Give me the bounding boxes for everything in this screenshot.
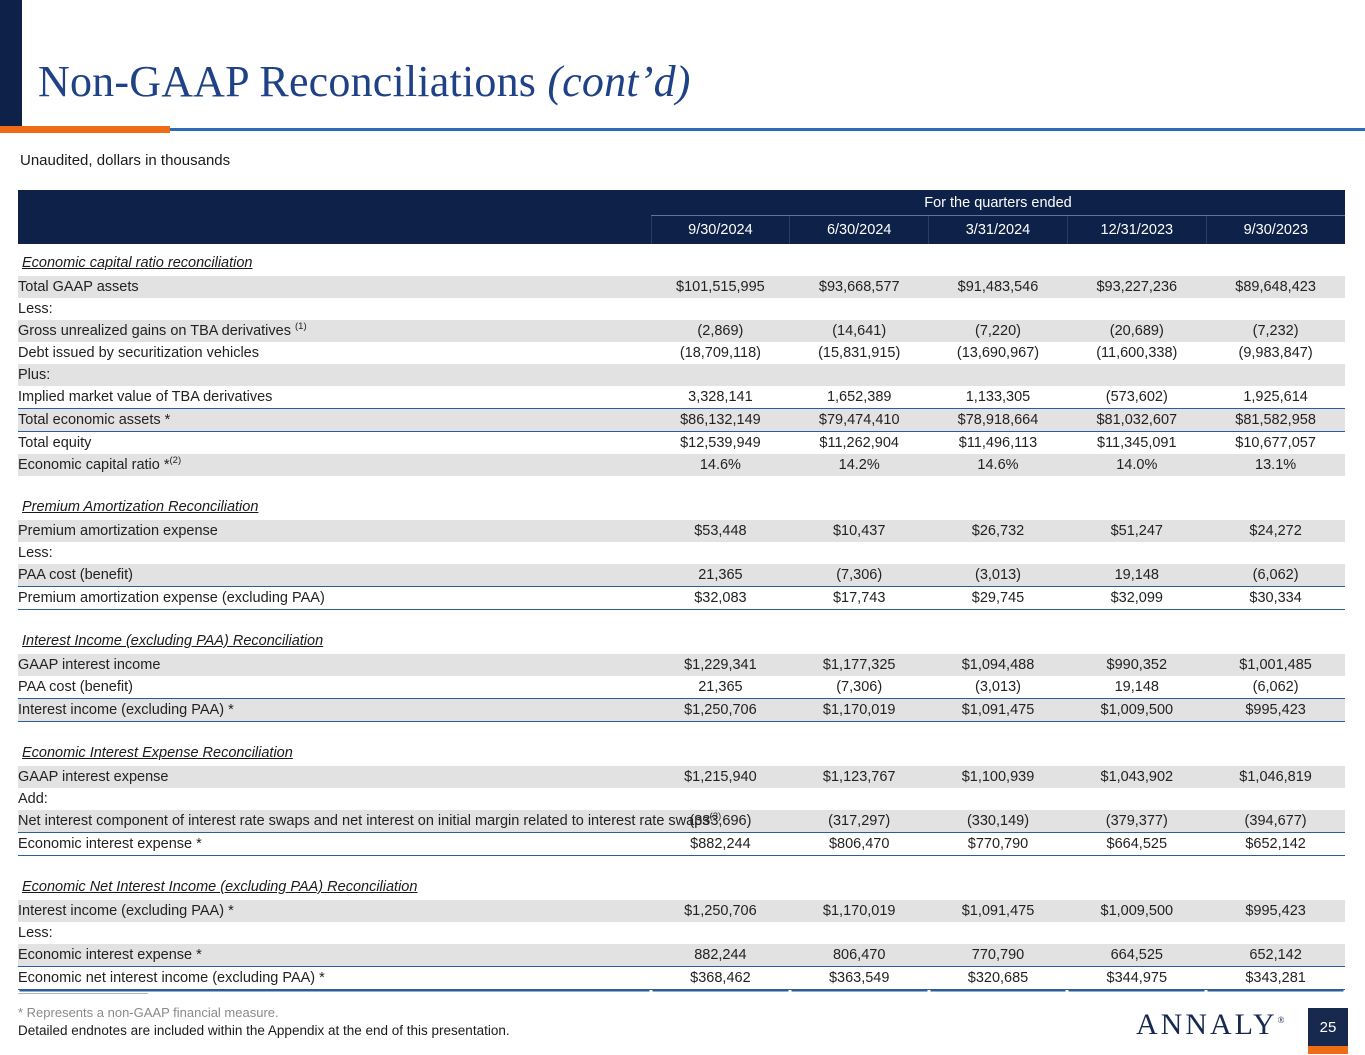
row-value: $1,046,819 bbox=[1206, 766, 1345, 788]
table-header-dates-row: 9/30/2024 6/30/2024 3/31/2024 12/31/2023… bbox=[18, 216, 1345, 245]
reconciliation-table-container: For the quarters ended 9/30/2024 6/30/20… bbox=[18, 190, 1345, 990]
row-label: Economic net interest income (excluding … bbox=[18, 967, 651, 990]
row-value: $343,281 bbox=[1206, 967, 1345, 990]
row-value: $1,250,706 bbox=[651, 699, 790, 722]
footnote-marker: (2) bbox=[170, 455, 182, 466]
row-value: $32,099 bbox=[1067, 587, 1206, 610]
section-header-row: Interest Income (excluding PAA) Reconcil… bbox=[18, 622, 1345, 654]
row-label: Less: bbox=[18, 922, 651, 944]
row-value bbox=[651, 922, 790, 944]
table-row: Less: bbox=[18, 922, 1345, 944]
row-value: $11,262,904 bbox=[790, 432, 929, 455]
row-value: (9,983,847) bbox=[1206, 342, 1345, 364]
table-row: Less: bbox=[18, 298, 1345, 320]
row-label: Economic capital ratio *(2) bbox=[18, 454, 651, 476]
row-value: 652,142 bbox=[1206, 944, 1345, 967]
row-value: 3,328,141 bbox=[651, 386, 790, 409]
title-rule-blue bbox=[170, 128, 1365, 131]
row-value: $363,549 bbox=[790, 967, 929, 990]
row-value: (6,062) bbox=[1206, 564, 1345, 587]
row-value bbox=[790, 298, 929, 320]
row-value: 1,925,614 bbox=[1206, 386, 1345, 409]
row-value: $10,677,057 bbox=[1206, 432, 1345, 455]
table-row: GAAP interest expense$1,215,940$1,123,76… bbox=[18, 766, 1345, 788]
row-value: $806,470 bbox=[790, 833, 929, 856]
reconciliation-table: For the quarters ended 9/30/2024 6/30/20… bbox=[18, 190, 1345, 990]
section-spacer bbox=[18, 610, 1345, 623]
row-label: Economic interest expense * bbox=[18, 833, 651, 856]
table-row: Total GAAP assets$101,515,995$93,668,577… bbox=[18, 276, 1345, 298]
row-value: $51,247 bbox=[1067, 520, 1206, 542]
row-value: 14.6% bbox=[929, 454, 1068, 476]
table-head: For the quarters ended 9/30/2024 6/30/20… bbox=[18, 190, 1345, 244]
row-value bbox=[790, 922, 929, 944]
column-header-q4: 12/31/2023 bbox=[1067, 216, 1206, 245]
footnote-divider bbox=[18, 993, 148, 994]
column-header-q2: 6/30/2024 bbox=[790, 216, 929, 245]
row-value: $12,539,949 bbox=[651, 432, 790, 455]
row-value: (18,709,118) bbox=[651, 342, 790, 364]
section-header-row: Economic Interest Expense Reconciliation bbox=[18, 734, 1345, 766]
table-row: Net interest component of interest rate … bbox=[18, 810, 1345, 833]
section-spacer-cell bbox=[18, 610, 1345, 623]
row-value: $1,123,767 bbox=[790, 766, 929, 788]
row-value bbox=[1206, 922, 1345, 944]
row-label: PAA cost (benefit) bbox=[18, 676, 651, 699]
row-value: $1,250,706 bbox=[651, 900, 790, 922]
row-value: $86,132,149 bbox=[651, 409, 790, 432]
table-row: Interest income (excluding PAA) *$1,250,… bbox=[18, 900, 1345, 922]
row-value: $1,091,475 bbox=[929, 699, 1068, 722]
row-value: 14.0% bbox=[1067, 454, 1206, 476]
row-value: $320,685 bbox=[929, 967, 1068, 990]
row-value bbox=[1206, 788, 1345, 810]
row-value: $1,001,485 bbox=[1206, 654, 1345, 676]
row-value bbox=[929, 788, 1068, 810]
row-value: (14,641) bbox=[790, 320, 929, 342]
row-value: $1,170,019 bbox=[790, 900, 929, 922]
row-value: $93,227,236 bbox=[1067, 276, 1206, 298]
row-label: Gross unrealized gains on TBA derivative… bbox=[18, 320, 651, 342]
row-value: $652,142 bbox=[1206, 833, 1345, 856]
section-header-row: Economic Net Interest Income (excluding … bbox=[18, 868, 1345, 900]
header-label-cell bbox=[18, 216, 651, 245]
header-corner-cell bbox=[18, 190, 651, 216]
row-value: 21,365 bbox=[651, 676, 790, 699]
table-header-spanner-row: For the quarters ended bbox=[18, 190, 1345, 216]
table-row: Total economic assets *$86,132,149$79,47… bbox=[18, 409, 1345, 432]
row-value: $1,094,488 bbox=[929, 654, 1068, 676]
row-value: $81,032,607 bbox=[1067, 409, 1206, 432]
row-value: $53,448 bbox=[651, 520, 790, 542]
row-value: (11,600,338) bbox=[1067, 342, 1206, 364]
page-number-badge: 25 bbox=[1308, 1008, 1348, 1046]
table-body: Economic capital ratio reconciliationTot… bbox=[18, 244, 1345, 990]
row-value: 1,652,389 bbox=[790, 386, 929, 409]
table-row: Premium amortization expense$53,448$10,4… bbox=[18, 520, 1345, 542]
section-spacer-cell bbox=[18, 856, 1345, 869]
page-number-underbar bbox=[1308, 1046, 1348, 1054]
row-value: $78,918,664 bbox=[929, 409, 1068, 432]
header-spanner-label: For the quarters ended bbox=[651, 190, 1345, 216]
column-header-q3: 3/31/2024 bbox=[929, 216, 1068, 245]
row-value: $995,423 bbox=[1206, 699, 1345, 722]
row-value: $664,525 bbox=[1067, 833, 1206, 856]
row-label: Add: bbox=[18, 788, 651, 810]
section-header-cell: Economic capital ratio reconciliation bbox=[18, 244, 1345, 276]
row-value: 13.1% bbox=[1206, 454, 1345, 476]
row-value: (13,690,967) bbox=[929, 342, 1068, 364]
row-value: $770,790 bbox=[929, 833, 1068, 856]
row-value bbox=[1206, 298, 1345, 320]
section-header-row: Economic capital ratio reconciliation bbox=[18, 244, 1345, 276]
row-value: $882,244 bbox=[651, 833, 790, 856]
row-value: $81,582,958 bbox=[1206, 409, 1345, 432]
row-value: 806,470 bbox=[790, 944, 929, 967]
row-value: $26,732 bbox=[929, 520, 1068, 542]
subtitle: Unaudited, dollars in thousands bbox=[20, 152, 230, 169]
row-value: $995,423 bbox=[1206, 900, 1345, 922]
footnote-endnotes: Detailed endnotes are included within th… bbox=[18, 1023, 510, 1038]
page-title-contd: (cont’d) bbox=[547, 57, 690, 106]
row-value: $1,009,500 bbox=[1067, 699, 1206, 722]
row-value bbox=[790, 788, 929, 810]
row-value: 664,525 bbox=[1067, 944, 1206, 967]
section-title: Interest Income (excluding PAA) Reconcil… bbox=[18, 633, 323, 649]
row-value: $1,009,500 bbox=[1067, 900, 1206, 922]
row-value: $344,975 bbox=[1067, 967, 1206, 990]
row-label: Economic interest expense * bbox=[18, 944, 651, 967]
table-row: Less: bbox=[18, 542, 1345, 564]
footnote-non-gaap: * Represents a non-GAAP financial measur… bbox=[18, 1005, 279, 1020]
table-row: Implied market value of TBA derivatives3… bbox=[18, 386, 1345, 409]
section-header-cell: Economic Net Interest Income (excluding … bbox=[18, 868, 1345, 900]
row-value: (394,677) bbox=[1206, 810, 1345, 833]
row-value bbox=[929, 922, 1068, 944]
row-value: (7,232) bbox=[1206, 320, 1345, 342]
row-value: (3,013) bbox=[929, 676, 1068, 699]
row-value bbox=[651, 788, 790, 810]
row-value: 14.2% bbox=[790, 454, 929, 476]
table-row: Total equity$12,539,949$11,262,904$11,49… bbox=[18, 432, 1345, 455]
section-header-cell: Interest Income (excluding PAA) Reconcil… bbox=[18, 622, 1345, 654]
row-value bbox=[929, 364, 1068, 386]
title-accent-bar bbox=[0, 0, 22, 128]
row-value: $30,334 bbox=[1206, 587, 1345, 610]
row-label: Less: bbox=[18, 542, 651, 564]
row-value bbox=[790, 364, 929, 386]
row-value: $93,668,577 bbox=[790, 276, 929, 298]
page-title-main: Non-GAAP Reconciliations bbox=[38, 57, 547, 106]
table-row: Debt issued by securitization vehicles(1… bbox=[18, 342, 1345, 364]
row-value bbox=[651, 364, 790, 386]
row-value: $368,462 bbox=[651, 967, 790, 990]
row-value: (317,297) bbox=[790, 810, 929, 833]
row-value: 19,148 bbox=[1067, 564, 1206, 587]
row-value: (20,689) bbox=[1067, 320, 1206, 342]
row-value: $1,091,475 bbox=[929, 900, 1068, 922]
row-label: Implied market value of TBA derivatives bbox=[18, 386, 651, 409]
row-value: 1,133,305 bbox=[929, 386, 1068, 409]
table-row: Gross unrealized gains on TBA derivative… bbox=[18, 320, 1345, 342]
row-label: Total economic assets * bbox=[18, 409, 651, 432]
section-spacer bbox=[18, 856, 1345, 869]
row-value bbox=[1206, 542, 1345, 564]
row-value: $101,515,995 bbox=[651, 276, 790, 298]
row-value: (6,062) bbox=[1206, 676, 1345, 699]
section-spacer bbox=[18, 476, 1345, 488]
row-value: $10,437 bbox=[790, 520, 929, 542]
table-row: Economic interest expense *$882,244$806,… bbox=[18, 833, 1345, 856]
section-header-cell: Economic Interest Expense Reconciliation bbox=[18, 734, 1345, 766]
row-value bbox=[1206, 364, 1345, 386]
row-value: (15,831,915) bbox=[790, 342, 929, 364]
table-row: Economic capital ratio *(2)14.6%14.2%14.… bbox=[18, 454, 1345, 476]
section-title: Economic Interest Expense Reconciliation bbox=[18, 745, 293, 761]
row-value bbox=[790, 542, 929, 564]
row-value: (7,220) bbox=[929, 320, 1068, 342]
section-title: Economic capital ratio reconciliation bbox=[18, 255, 253, 271]
row-label: Less: bbox=[18, 298, 651, 320]
row-value: (2,869) bbox=[651, 320, 790, 342]
row-value: 14.6% bbox=[651, 454, 790, 476]
row-label: Plus: bbox=[18, 364, 651, 386]
section-title: Premium Amortization Reconciliation bbox=[18, 499, 258, 515]
row-value: $89,648,423 bbox=[1206, 276, 1345, 298]
row-value: $1,170,019 bbox=[790, 699, 929, 722]
table-row: Plus: bbox=[18, 364, 1345, 386]
row-value: $1,177,325 bbox=[790, 654, 929, 676]
row-value bbox=[1067, 298, 1206, 320]
row-label: Premium amortization expense bbox=[18, 520, 651, 542]
row-value: $1,100,939 bbox=[929, 766, 1068, 788]
row-value: $1,229,341 bbox=[651, 654, 790, 676]
table-row: Interest income (excluding PAA) *$1,250,… bbox=[18, 699, 1345, 722]
row-value: $11,345,091 bbox=[1067, 432, 1206, 455]
row-value bbox=[929, 542, 1068, 564]
row-value: (330,149) bbox=[929, 810, 1068, 833]
annaly-logo-text: ANNALY bbox=[1136, 1008, 1278, 1041]
row-label: Debt issued by securitization vehicles bbox=[18, 342, 651, 364]
page-title: Non-GAAP Reconciliations (cont’d) bbox=[38, 56, 691, 107]
row-value: 19,148 bbox=[1067, 676, 1206, 699]
section-title: Economic Net Interest Income (excluding … bbox=[18, 879, 417, 895]
row-value: $990,352 bbox=[1067, 654, 1206, 676]
row-label: Total equity bbox=[18, 432, 651, 455]
row-value: $1,043,902 bbox=[1067, 766, 1206, 788]
section-header-cell: Premium Amortization Reconciliation bbox=[18, 488, 1345, 520]
row-value bbox=[1067, 922, 1206, 944]
row-label: Premium amortization expense (excluding … bbox=[18, 587, 651, 610]
row-value: 882,244 bbox=[651, 944, 790, 967]
row-label: GAAP interest income bbox=[18, 654, 651, 676]
row-value: $79,474,410 bbox=[790, 409, 929, 432]
registered-trademark-icon: ® bbox=[1278, 1015, 1285, 1025]
table-row: Economic interest expense *882,244806,47… bbox=[18, 944, 1345, 967]
section-spacer-cell bbox=[18, 722, 1345, 735]
annaly-logo: ANNALY® bbox=[1136, 1008, 1285, 1042]
row-label: Total GAAP assets bbox=[18, 276, 651, 298]
row-value: 770,790 bbox=[929, 944, 1068, 967]
section-spacer bbox=[18, 722, 1345, 735]
section-spacer-cell bbox=[18, 476, 1345, 488]
row-value: $24,272 bbox=[1206, 520, 1345, 542]
row-label: Net interest component of interest rate … bbox=[18, 810, 651, 833]
row-value bbox=[1067, 542, 1206, 564]
row-value bbox=[1067, 364, 1206, 386]
table-row: GAAP interest income$1,229,341$1,177,325… bbox=[18, 654, 1345, 676]
table-row: Economic net interest income (excluding … bbox=[18, 967, 1345, 990]
row-label: PAA cost (benefit) bbox=[18, 564, 651, 587]
table-row: PAA cost (benefit)21,365(7,306)(3,013)19… bbox=[18, 564, 1345, 587]
column-header-q5: 9/30/2023 bbox=[1206, 216, 1345, 245]
row-value: $32,083 bbox=[651, 587, 790, 610]
row-value bbox=[929, 298, 1068, 320]
table-row: Add: bbox=[18, 788, 1345, 810]
row-label: Interest income (excluding PAA) * bbox=[18, 900, 651, 922]
column-header-q1: 9/30/2024 bbox=[651, 216, 790, 245]
row-value: $91,483,546 bbox=[929, 276, 1068, 298]
row-value bbox=[651, 298, 790, 320]
row-label: Interest income (excluding PAA) * bbox=[18, 699, 651, 722]
row-value: (3,013) bbox=[929, 564, 1068, 587]
row-value: $17,743 bbox=[790, 587, 929, 610]
footnote-marker: (1) bbox=[295, 321, 307, 332]
row-value: $11,496,113 bbox=[929, 432, 1068, 455]
row-value: (7,306) bbox=[790, 676, 929, 699]
table-row: PAA cost (benefit)21,365(7,306)(3,013)19… bbox=[18, 676, 1345, 699]
row-value: (379,377) bbox=[1067, 810, 1206, 833]
row-value: 21,365 bbox=[651, 564, 790, 587]
title-rule-orange bbox=[0, 126, 170, 133]
row-value: (573,602) bbox=[1067, 386, 1206, 409]
row-value bbox=[651, 542, 790, 564]
row-value: $29,745 bbox=[929, 587, 1068, 610]
row-value bbox=[1067, 788, 1206, 810]
row-value: (7,306) bbox=[790, 564, 929, 587]
row-label: GAAP interest expense bbox=[18, 766, 651, 788]
table-row: Premium amortization expense (excluding … bbox=[18, 587, 1345, 610]
section-header-row: Premium Amortization Reconciliation bbox=[18, 488, 1345, 520]
row-value: $1,215,940 bbox=[651, 766, 790, 788]
